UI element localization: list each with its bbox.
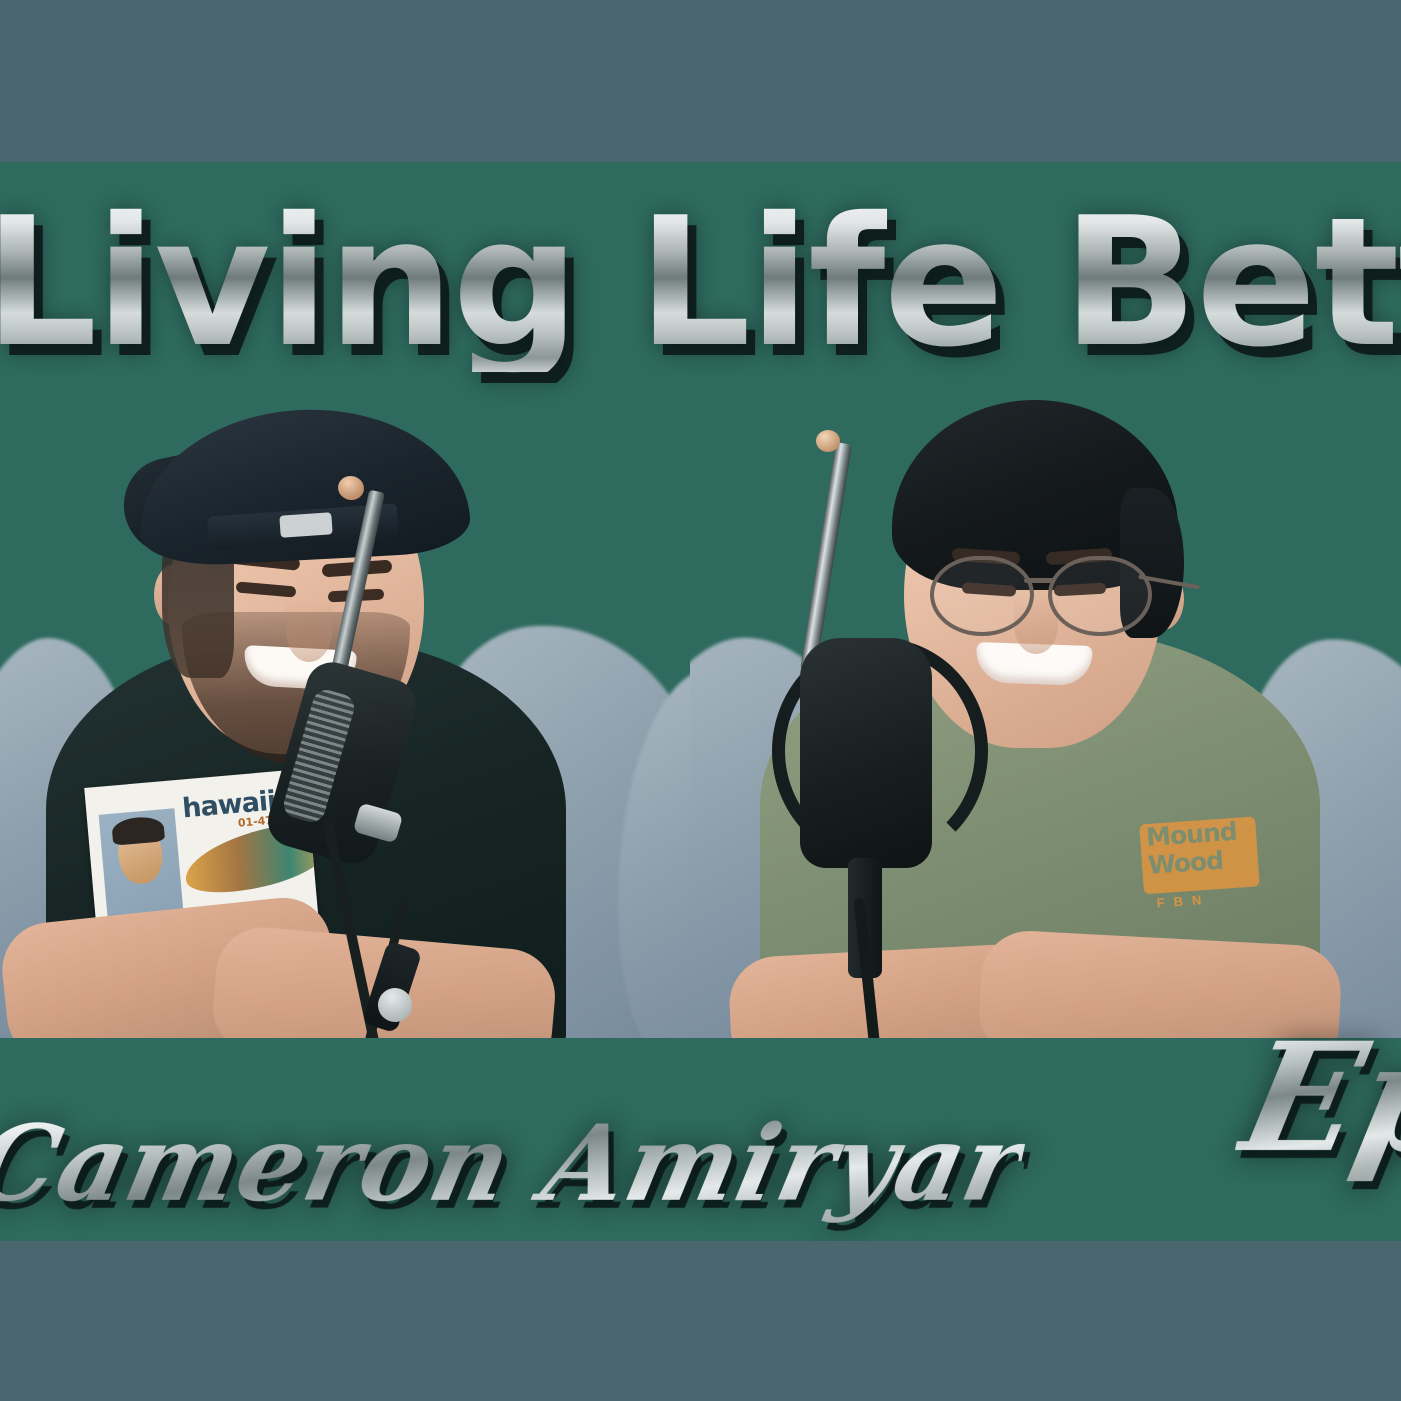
logo-subtext: FBN (1156, 892, 1211, 911)
letterbox-bar-bottom (0, 1241, 1401, 1401)
tshirt-graphic-moundwood: Mound Wood FBN (1138, 802, 1272, 923)
id-photo-hair (111, 815, 165, 845)
microphone-icon (800, 638, 932, 868)
letterbox-bar-top (0, 0, 1401, 162)
nose (286, 600, 332, 662)
id-photo (99, 808, 184, 924)
thumbnail-stage: hawaii 01-47441 McLOVIN (0, 162, 1401, 1241)
podcast-thumbnail: hawaii 01-47441 McLOVIN (0, 0, 1401, 1401)
eyeglass-lens (930, 556, 1034, 636)
arm (977, 929, 1343, 1038)
host-left-cutout: hawaii 01-47441 McLOVIN (0, 338, 726, 1038)
eyeglasses-icon (930, 556, 1166, 632)
cap-clip (279, 512, 332, 538)
eyeglass-bridge (1024, 578, 1054, 583)
eyeglass-lens (1048, 556, 1152, 636)
microphone-mount-tip (816, 430, 840, 452)
guest-right-cutout: Mound Wood FBN (690, 338, 1401, 1038)
guest-name-label: Cameron Amiryar (0, 1102, 1034, 1225)
